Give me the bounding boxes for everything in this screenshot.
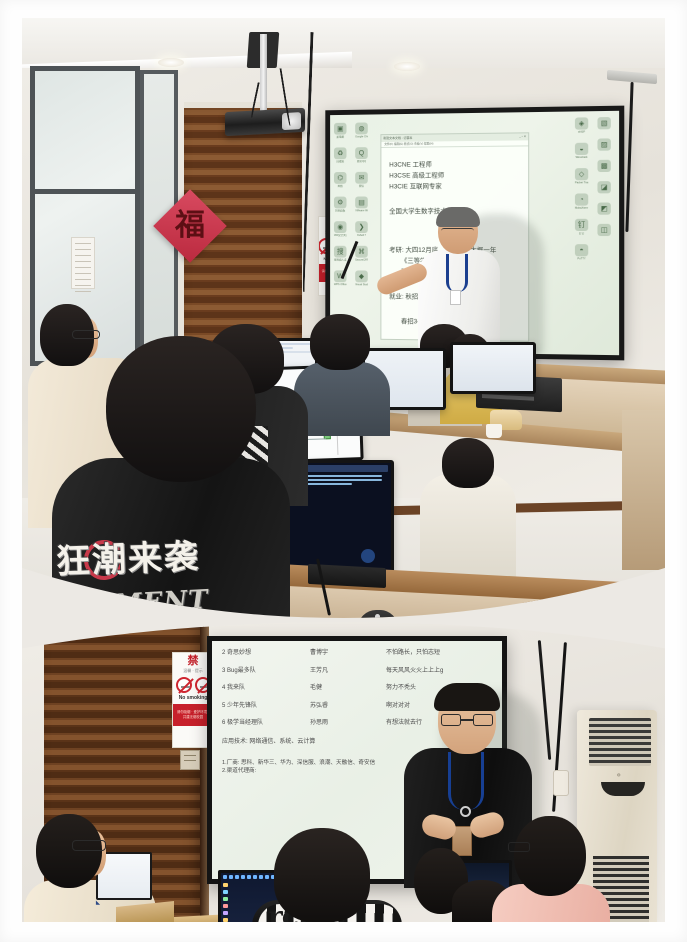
- desktop-icon[interactable]: ◇Packet Tracer: [575, 168, 588, 184]
- lectern-pod: [622, 410, 665, 570]
- tshirt-chinese-text: 狂潮来袭: [55, 539, 232, 579]
- photo-collage: 福 禁 温馨 · 提示 No smoking 请勿吸烟 · 爱护环境 · 共建无…: [0, 0, 687, 942]
- desktop-icon[interactable]: ◈eNSP: [575, 117, 588, 133]
- desktop-icon[interactable]: ◫: [597, 224, 610, 236]
- desktop-icon[interactable]: ◔MobaXterm: [575, 193, 588, 209]
- no-smoking-english: No smoking: [179, 695, 208, 701]
- notepad-title: 新建文本文档 - 记事本: [383, 136, 412, 141]
- team-name-cell: 3 Bug最多队: [222, 667, 310, 675]
- window-mullion: [35, 189, 135, 194]
- student-head: [310, 314, 370, 370]
- slogan-cell: 不怕路长，只怕志短: [386, 649, 492, 657]
- glasses-icon: [72, 840, 106, 851]
- glasses-icon: [441, 714, 493, 726]
- student-torso: [294, 362, 390, 436]
- desktop-icon[interactable]: ⌬网络: [334, 172, 347, 188]
- glasses-icon: [441, 228, 474, 236]
- screen-logo-icon: [361, 549, 375, 563]
- table-row: 3 Bug最多队 王芳凡 每天风风火火上上上g: [222, 667, 492, 675]
- laptop-screen-far[interactable]: [450, 342, 536, 394]
- desktop-icon[interactable]: ▧: [597, 117, 610, 129]
- window-controls[interactable]: _ ▫ ✕: [519, 134, 526, 139]
- student-head: [442, 438, 494, 488]
- desktop-icon[interactable]: ❯Xshell 7: [355, 221, 368, 237]
- desktop-icon[interactable]: ⚙控制面板: [334, 197, 347, 213]
- notepad-line: H3CIE 互联网专家: [389, 181, 520, 193]
- desktop-icon[interactable]: ◒Wireshark: [575, 143, 588, 159]
- fu-character: 福: [175, 211, 205, 241]
- speaker-lanyard: [448, 752, 484, 810]
- team-name-cell: 2 奇思妙想: [222, 649, 310, 657]
- leader-cell: 苏弘睿: [310, 702, 386, 710]
- desktop-icon[interactable]: ◓PuTTY: [575, 244, 588, 260]
- photo-top-classroom: 福 禁 温馨 · 提示 No smoking 请勿吸烟 · 爱护环境 · 共建无…: [22, 18, 665, 618]
- desktop-icon[interactable]: ◉360安全浏览器: [334, 221, 347, 237]
- foreground-student-head: [106, 336, 256, 482]
- projector-mount-pole: [260, 34, 267, 112]
- ac-air-vent: [601, 782, 645, 796]
- no-smoking-title: 禁: [188, 656, 199, 667]
- glasses-icon: [72, 330, 100, 339]
- projector-lens: [282, 112, 301, 130]
- desktop-icon-column-right[interactable]: ◈eNSP ◒Wireshark ◇Packet Tracer ◔MobaXte…: [575, 117, 588, 260]
- desktop-icon[interactable]: ✉微信: [355, 172, 368, 188]
- lanyard-ring: [460, 806, 471, 817]
- student-head: [514, 816, 586, 896]
- no-smoking-subtitle: 温馨 · 提示: [183, 668, 203, 674]
- desktop-icon[interactable]: 钉钉钉: [575, 219, 588, 235]
- desktop-icon[interactable]: ◍Google Chrome: [355, 122, 368, 138]
- leader-cell: 毛健: [310, 684, 386, 692]
- team-name-cell: 4 我来队: [222, 684, 310, 692]
- wall-control-plate[interactable]: [553, 770, 569, 796]
- speaker-hair: [434, 683, 500, 711]
- ac-top-grill: [589, 718, 651, 766]
- team-name-cell: 5 少年先锋队: [222, 702, 310, 710]
- desktop-icon[interactable]: ▣此电脑: [334, 123, 347, 139]
- desktop-icon[interactable]: Q腾讯QQ: [355, 147, 368, 163]
- desktop-icons[interactable]: [223, 883, 228, 922]
- glasses-icon: [508, 842, 530, 852]
- ceiling-downlight: [158, 58, 184, 67]
- wall-socket: [180, 750, 200, 770]
- student-torso-right: [420, 474, 516, 578]
- photo-stack: 福 禁 温馨 · 提示 No smoking 请勿吸烟 · 爱护环境 · 共建无…: [22, 18, 665, 922]
- desktop-icon[interactable]: ◩: [597, 202, 610, 214]
- leader-cell: 孙思雨: [310, 719, 386, 727]
- desktop-icon[interactable]: ◪: [597, 181, 610, 193]
- ceiling-projector: [225, 108, 305, 136]
- leader-cell: 王芳凡: [310, 667, 386, 675]
- leader-cell: 曹博宇: [310, 649, 386, 657]
- notepad-line: H3CSE 高级工程师: [389, 170, 520, 182]
- wall-notice-paper: [71, 237, 95, 289]
- student-head: [36, 814, 102, 888]
- desktop-icon[interactable]: ⌘SecureCRT: [355, 246, 368, 262]
- instructor-hair: [436, 207, 480, 227]
- student-head: [274, 828, 370, 922]
- no-smoking-pictograms: [176, 677, 211, 693]
- desktop-icon[interactable]: 搜搜狗输入法: [334, 246, 347, 262]
- desktop-icon-column-left2[interactable]: ◍Google Chrome Q腾讯QQ ✉微信 ▤VMware Worksta…: [355, 122, 368, 286]
- desktop-icon-column-left[interactable]: ▣此电脑 ♻回收站 ⌬网络 ⚙控制面板 ◉360安全浏览器 搜搜狗输入法 WWP…: [334, 123, 347, 286]
- tshirt-latin-text: ELEMENT: [51, 585, 242, 618]
- instructor-id-badge: [450, 290, 461, 305]
- paper-cup: [486, 424, 502, 438]
- ceiling-downlight: [394, 62, 420, 71]
- desktop-icon[interactable]: ▩: [597, 160, 610, 172]
- table-row: 2 奇思妙想 曹博宇 不怕路长，只怕志短: [222, 649, 492, 657]
- desktop-icon[interactable]: ▨: [597, 138, 610, 150]
- desktop-icon[interactable]: ◆Visual Studio: [355, 270, 368, 286]
- desktop-icon[interactable]: ▤VMware Workstation: [355, 196, 368, 212]
- photo-bottom-classroom: 禁 温馨 · 提示 No smoking 请勿吸烟 · 爱护环境 · 共建无烟校…: [22, 622, 665, 922]
- team-name-cell: 6 极学当经理队: [222, 719, 310, 727]
- instructor-lanyard: [446, 254, 468, 292]
- desktop-icon[interactable]: ♻回收站: [334, 147, 347, 163]
- taskbar[interactable]: [223, 875, 275, 879]
- no-smoking-icon: [176, 677, 192, 693]
- desktop-icon-column-right2[interactable]: ▧ ▨ ▩ ◪ ◩ ◫: [597, 117, 610, 236]
- slogan-cell: 每天风风火火上上上g: [386, 667, 492, 675]
- ac-brand-logo: ◍: [617, 772, 621, 777]
